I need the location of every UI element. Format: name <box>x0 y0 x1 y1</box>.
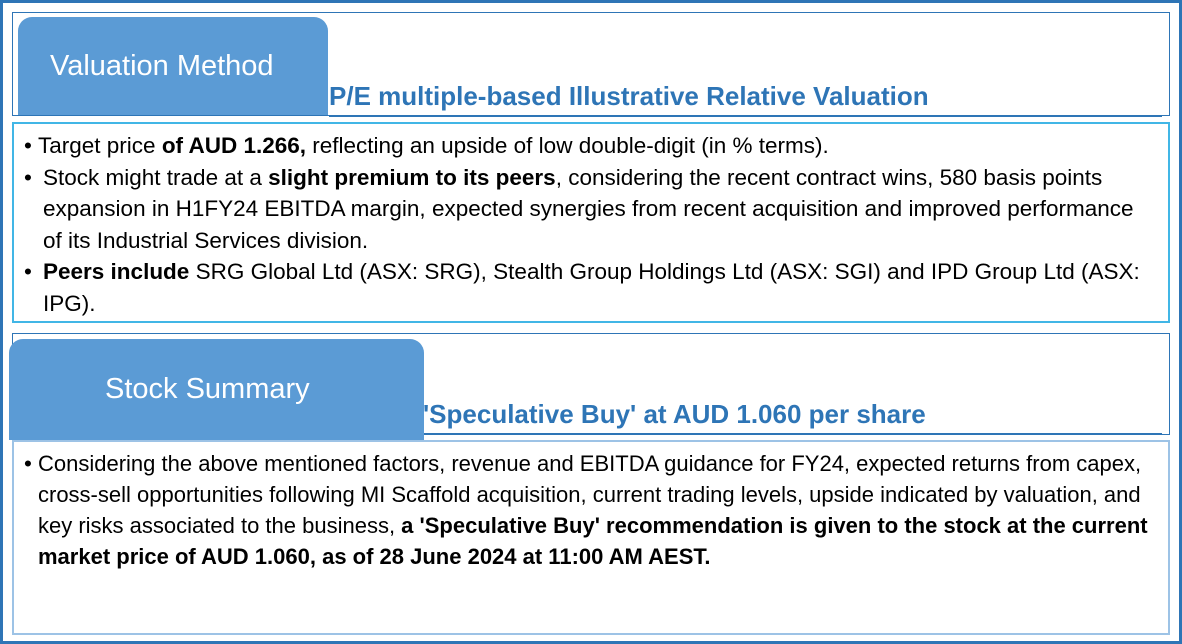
slide-frame: Valuation Method P/E multiple-based Illu… <box>0 0 1182 644</box>
text-segment: SRG Global Ltd (ASX: SRG), Stealth Group… <box>43 259 1140 316</box>
valuation-title-underline <box>329 115 1162 117</box>
valuation-bullet-1: • Target price of AUD 1.266, reflecting … <box>24 130 1158 162</box>
stock-summary-bullet-1-text: Considering the above mentioned factors,… <box>38 448 1158 572</box>
valuation-bullet-3: • Peers include SRG Global Ltd (ASX: SRG… <box>24 256 1158 319</box>
valuation-method-tab: Valuation Method <box>18 17 328 115</box>
valuation-bullet-1-text: Target price of AUD 1.266, reflecting an… <box>38 130 1158 162</box>
valuation-bullet-3-text: Peers include SRG Global Ltd (ASX: SRG),… <box>43 256 1158 319</box>
valuation-bullet-2-text: Stock might trade at a slight premium to… <box>43 162 1158 257</box>
text-segment: Stock might trade at a <box>43 165 268 190</box>
text-segment: reflecting an upside of low double-digit… <box>306 133 829 158</box>
text-segment: Target price <box>38 133 162 158</box>
valuation-bullet-2: • Stock might trade at a slight premium … <box>24 162 1158 257</box>
valuation-section-title: P/E multiple-based Illustrative Relative… <box>329 81 929 112</box>
stock-summary-body-box: • Considering the above mentioned factor… <box>12 440 1170 635</box>
text-segment-bold: slight premium to its peers <box>268 165 556 190</box>
text-segment-bold: of AUD 1.266, <box>162 133 306 158</box>
stock-summary-bullet-1: • Considering the above mentioned factor… <box>24 448 1158 572</box>
bullet-marker: • <box>24 162 43 194</box>
valuation-method-tab-label: Valuation Method <box>50 52 274 81</box>
stock-summary-section-title: 'Speculative Buy' at AUD 1.060 per share <box>423 399 926 430</box>
stock-summary-tab: Stock Summary <box>9 339 424 440</box>
stock-summary-title-underline <box>424 433 1162 435</box>
valuation-body-box: • Target price of AUD 1.266, reflecting … <box>12 122 1170 323</box>
text-segment-bold: Peers include <box>43 259 189 284</box>
stock-summary-tab-label: Stock Summary <box>105 375 310 404</box>
bullet-marker: • <box>24 448 38 480</box>
bullet-marker: • <box>24 256 43 288</box>
bullet-marker: • <box>24 130 38 162</box>
